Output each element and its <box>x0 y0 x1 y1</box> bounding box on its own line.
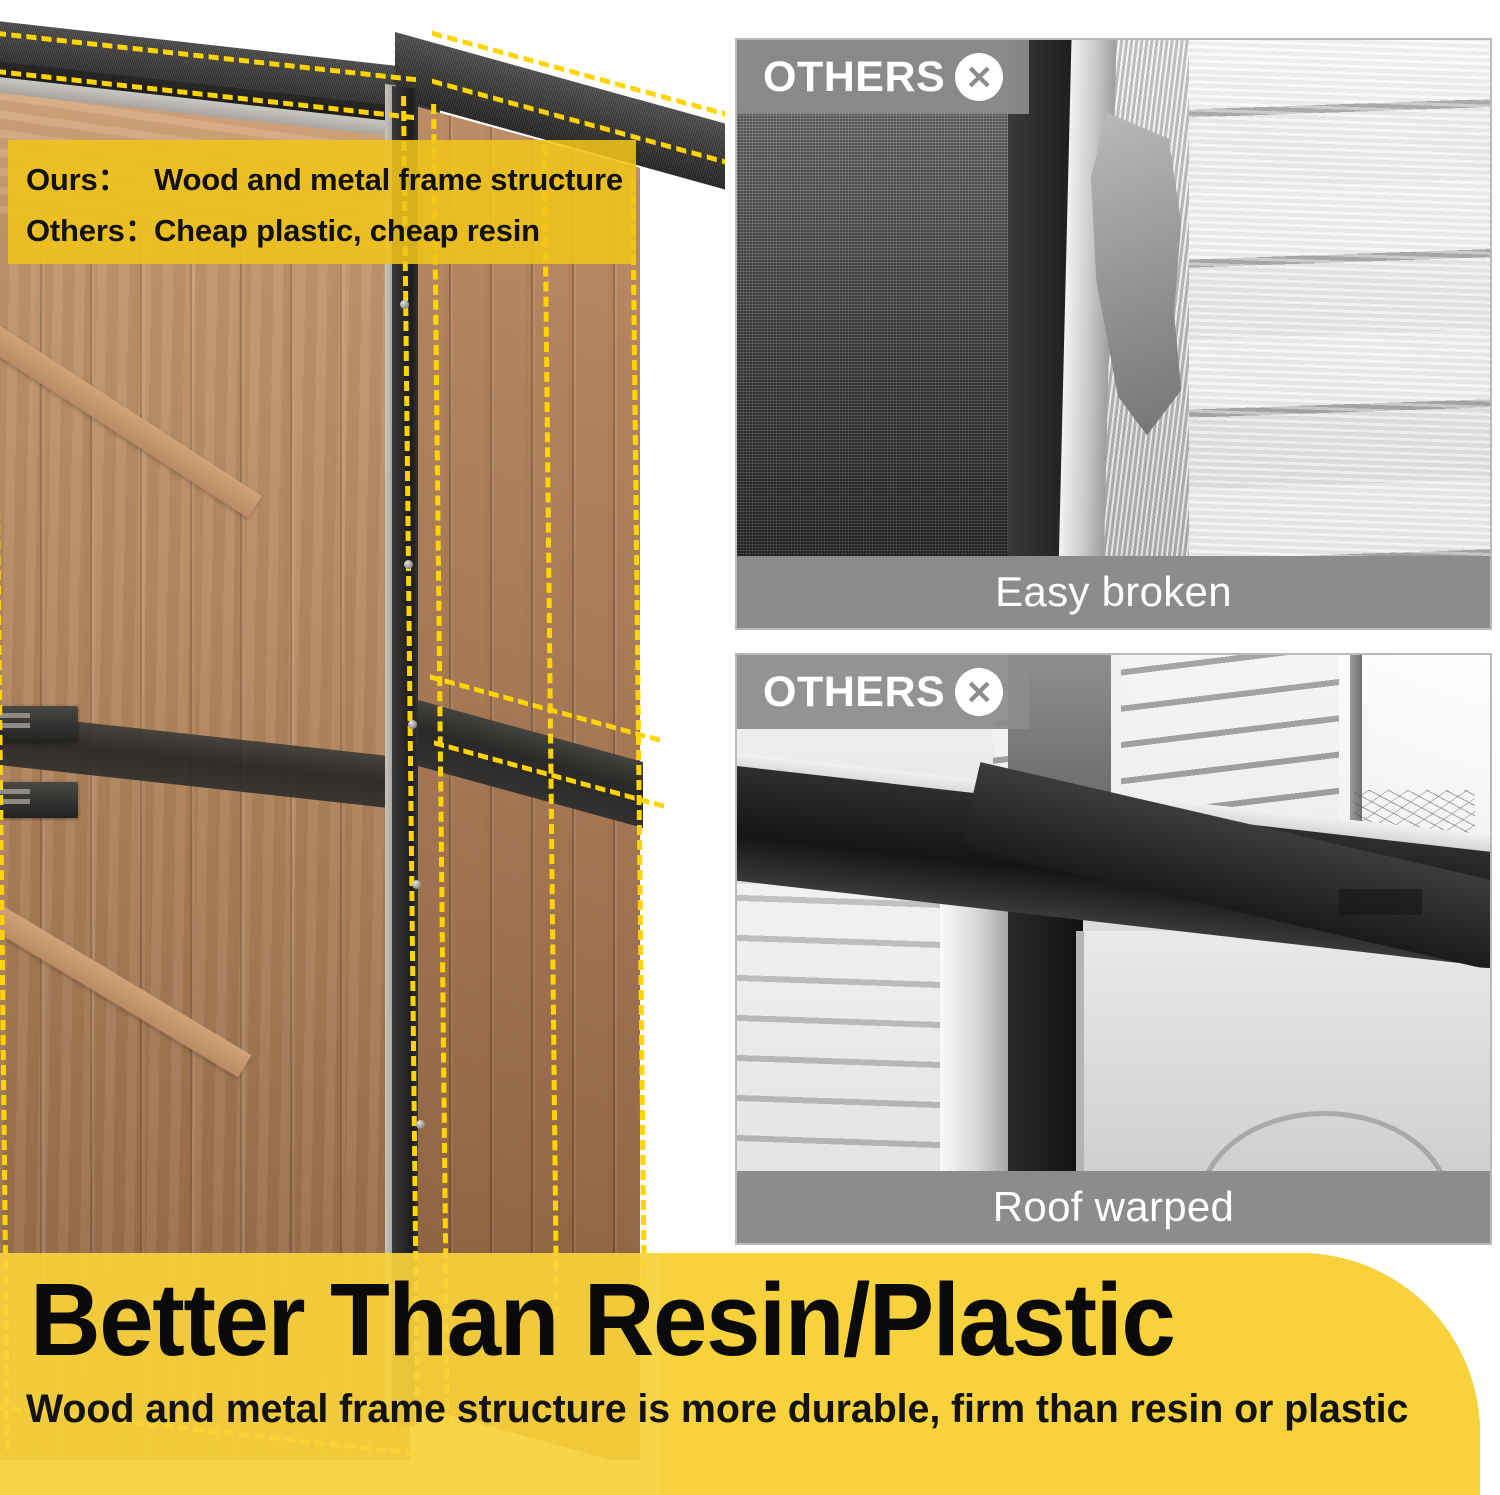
callout-value-others: Cheap plastic, cheap resin <box>154 213 540 248</box>
banner-subheadline: Wood and metal frame structure is more d… <box>26 1383 1454 1435</box>
product-comparison-infographic: Ours：Wood and metal frame structure Othe… <box>0 0 1500 1495</box>
callout-label-others: Others： <box>26 205 154 256</box>
shed-post-screw <box>412 880 421 889</box>
x-mark-icon: ✕ <box>955 53 1003 101</box>
photo-siding-region <box>1174 40 1490 560</box>
others-badge-label: OTHERS <box>763 671 945 714</box>
caption-bar-easy-broken: Easy broken <box>737 556 1490 628</box>
others-badge-label: OTHERS <box>763 56 945 99</box>
comparison-panel-roof-warped: OTHERS ✕ Roof warped <box>735 653 1492 1245</box>
others-badge-top: OTHERS ✕ <box>737 40 1029 114</box>
banner-headline: Better Than Resin/Plastic <box>30 1261 1379 1379</box>
shed-post-screw <box>400 300 409 309</box>
shed-door-hinge-lower <box>0 782 78 818</box>
caption-bar-roof-warped: Roof warped <box>737 1171 1490 1243</box>
shed-post-screw <box>416 1120 425 1129</box>
photo-dark-gap-region <box>1008 905 1083 1175</box>
ours-vs-others-callout: Ours：Wood and metal frame structure Othe… <box>8 140 636 264</box>
wooden-shed-hero-image: Ours：Wood and metal frame structure Othe… <box>0 0 725 1460</box>
callout-value-ours: Wood and metal frame structure <box>154 162 623 197</box>
photo-warped-plastic-roof: OTHERS ✕ <box>737 655 1490 1175</box>
shed-post-screw <box>408 720 417 729</box>
shed-door-hinge-upper <box>0 706 78 742</box>
photo-brand-label-region <box>1339 889 1422 915</box>
comparison-panel-easy-broken: OTHERS ✕ Easy broken <box>735 38 1492 630</box>
photo-mesh-screen-region <box>737 40 1023 560</box>
callout-row-ours: Ours：Wood and metal frame structure <box>26 154 636 205</box>
callout-row-others: Others：Cheap plastic, cheap resin <box>26 205 636 256</box>
photo-shed-corner-post-region <box>940 873 1008 1175</box>
caption-text: Roof warped <box>993 1183 1234 1231</box>
photo-broken-plastic-siding: OTHERS ✕ <box>737 40 1490 560</box>
callout-label-ours: Ours： <box>26 154 154 205</box>
bottom-marketing-banner: Better Than Resin/Plastic Wood and metal… <box>0 1253 1500 1495</box>
others-badge-bottom: OTHERS ✕ <box>737 655 1029 729</box>
photo-shed-door-region <box>1076 931 1490 1175</box>
x-mark-icon: ✕ <box>955 668 1003 716</box>
shed-post-screw <box>404 560 413 569</box>
caption-text: Easy broken <box>995 568 1232 616</box>
